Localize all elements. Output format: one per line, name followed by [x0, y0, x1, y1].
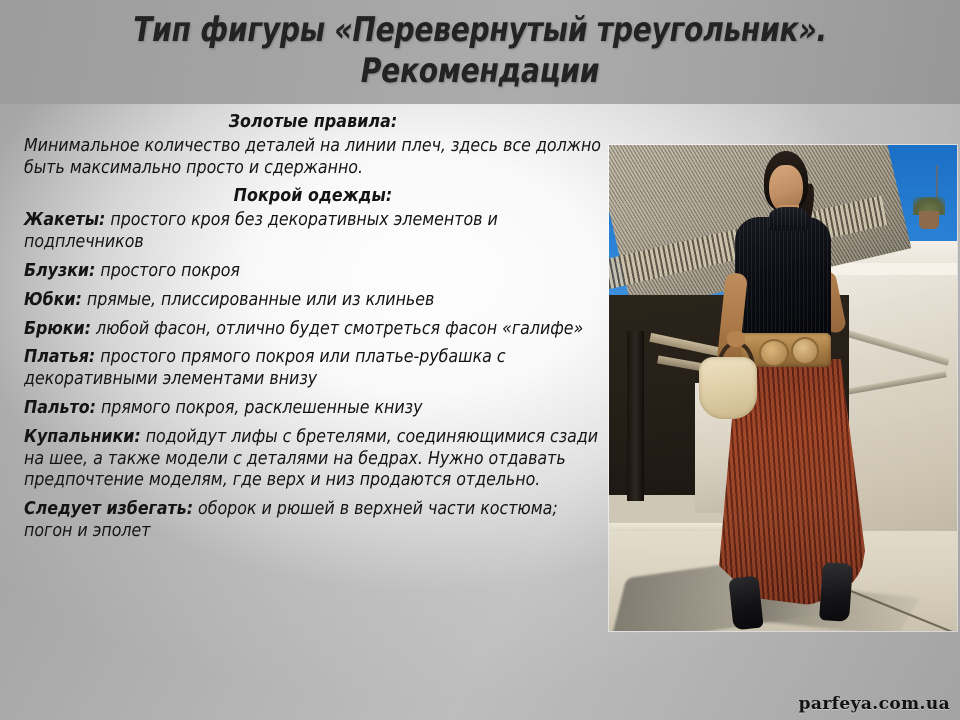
photo-hand: [727, 331, 745, 347]
photo-collar: [769, 207, 809, 231]
item-label: Пальто:: [24, 398, 96, 418]
list-item: Блузки: простого покроя: [24, 261, 602, 283]
list-item: Юбки: прямые, плиссированные или из клин…: [24, 290, 602, 312]
site-watermark: parfeya.com.ua: [799, 694, 950, 714]
golden-rules-heading: Золотые правила:: [24, 112, 602, 134]
photo-support-post: [627, 331, 644, 501]
page-title: Тип фигуры «Перевернутый треугольник». Р…: [75, 10, 885, 93]
photo-boot-right: [819, 562, 853, 622]
photo-turtleneck: [735, 217, 831, 347]
item-label: Купальники:: [24, 427, 141, 447]
list-item: Пальто: прямого покроя, расклешенные кни…: [24, 398, 602, 420]
list-item: Платья: простого прямого покроя или плат…: [24, 347, 602, 391]
item-label: Платья:: [24, 347, 95, 367]
photo-belt-buckle-right: [791, 337, 819, 365]
list-item: Жакеты: простого кроя без декоративных э…: [24, 210, 602, 254]
clothing-cut-heading: Покрой одежды:: [24, 186, 602, 208]
photo-handbag: [699, 357, 757, 419]
photo-belt-buckle-left: [759, 339, 789, 367]
slide-canvas: Тип фигуры «Перевернутый треугольник». Р…: [0, 0, 960, 720]
item-label: Блузки:: [24, 261, 95, 281]
item-text: прямые, плиссированные или из клиньев: [82, 290, 435, 310]
item-label: Юбки:: [24, 290, 82, 310]
list-item: Купальники: подойдут лифы с бретелями, с…: [24, 427, 602, 492]
golden-rules-text: Минимальное количество деталей на линии …: [24, 136, 602, 180]
item-text: простого покроя: [95, 261, 240, 281]
item-text: прямого покроя, расклешенные книзу: [96, 398, 423, 418]
item-label: Следует избегать:: [24, 499, 193, 519]
item-label: Брюки:: [24, 319, 91, 339]
item-label: Жакеты:: [24, 210, 105, 230]
item-text: любой фасон, отлично будет смотреться фа…: [91, 319, 583, 339]
list-item: Следует избегать: оборок и рюшей в верхн…: [24, 499, 602, 543]
item-text: простого прямого покроя или платье-рубаш…: [24, 347, 506, 389]
fashion-photo: [609, 145, 957, 631]
content-column: Золотые правила: Минимальное количество …: [24, 112, 602, 550]
photo-boot-left: [728, 576, 763, 631]
photo-flower-pot: [919, 211, 939, 229]
list-item: Брюки: любой фасон, отлично будет смотре…: [24, 319, 602, 341]
